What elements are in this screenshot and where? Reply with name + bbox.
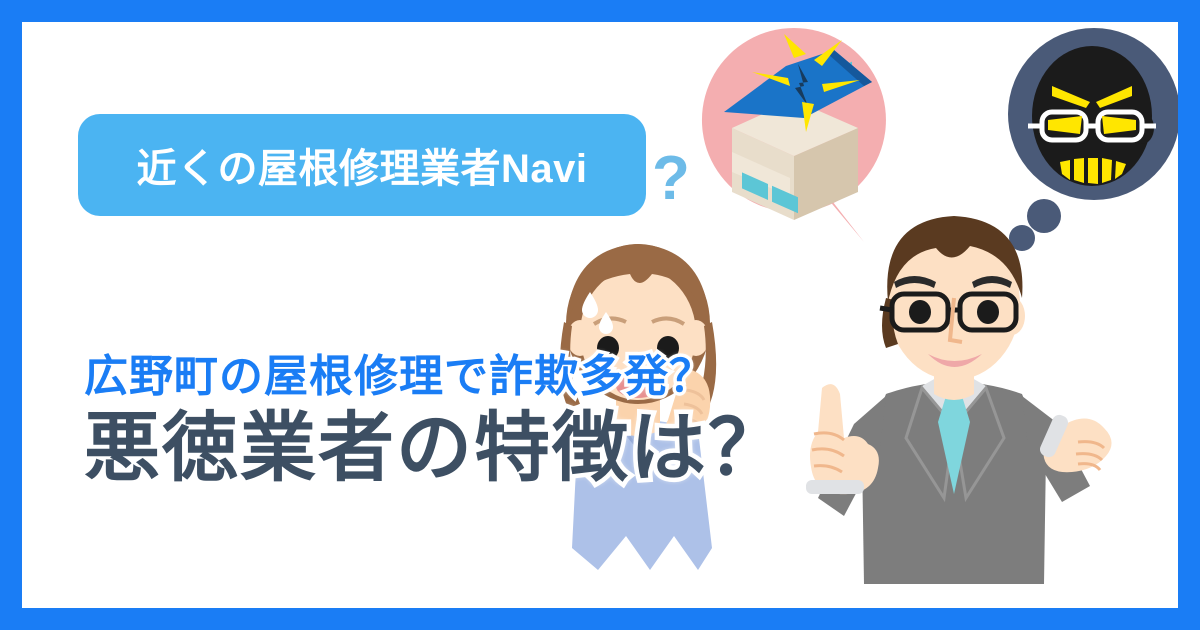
headline-subtitle: 広野町の屋根修理で詐欺多発？	[84, 352, 786, 401]
banner-canvas: 近くの屋根修理業者Navi ? 広野町の屋根修理で詐欺多発？ 悪徳業者の特徴は？	[0, 0, 1200, 630]
headline-title: 悪徳業者の特徴は？	[84, 407, 786, 491]
man-eye	[909, 300, 931, 324]
man-eye	[977, 300, 999, 324]
site-name-badge[interactable]: 近くの屋根修理業者Navi	[78, 114, 646, 216]
site-name-badge-label: 近くの屋根修理業者Navi	[137, 136, 588, 194]
banner-inner-area: 近くの屋根修理業者Navi ? 広野町の屋根修理で詐欺多発？ 悪徳業者の特徴は？	[22, 22, 1178, 608]
businessman-pointing-illustration	[794, 198, 1114, 598]
headline-block: 広野町の屋根修理で詐欺多発？ 悪徳業者の特徴は？	[84, 352, 786, 491]
man-head	[880, 216, 1025, 380]
question-mark-icon: ?	[652, 148, 690, 210]
